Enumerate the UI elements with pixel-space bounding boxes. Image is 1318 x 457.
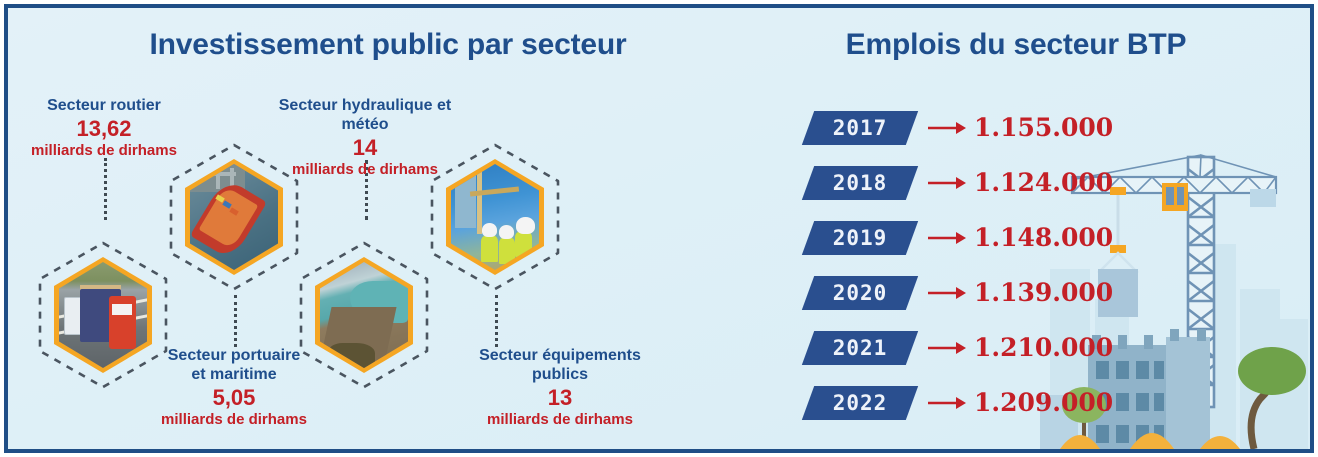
sector-name-line2: publics (460, 365, 660, 384)
year-value: 1.210.000 (974, 331, 1113, 365)
sector-image-routier (59, 262, 147, 368)
sector-label-routier: Secteur routier 13,62 milliards de dirha… (14, 96, 194, 160)
sector-name-line1: Secteur équipements (460, 346, 660, 365)
year-badge[interactable]: 2022 (802, 386, 918, 420)
year-label: 2018 (808, 166, 912, 200)
sector-label-hydraulique: Secteur hydraulique et météo 14 milliard… (255, 96, 475, 179)
year-row[interactable]: 2019 1.148.000 (808, 221, 1148, 255)
year-value: 1.155.000 (974, 111, 1113, 145)
year-value: 1.139.000 (974, 276, 1113, 310)
year-badge[interactable]: 2019 (802, 221, 918, 255)
right-arrow-icon (926, 283, 966, 303)
connector-routier (104, 158, 107, 220)
sector-unit: milliards de dirhams (255, 161, 475, 179)
sector-value: 5,05 (144, 385, 324, 411)
right-arrow-icon (926, 173, 966, 193)
year-label: 2017 (808, 111, 912, 145)
year-badge[interactable]: 2017 (802, 111, 918, 145)
year-row[interactable]: 2021 1.210.000 (808, 331, 1148, 365)
right-arrow-icon (926, 228, 966, 248)
sector-name: Secteur hydraulique et météo (255, 96, 475, 134)
year-label: 2020 (808, 276, 912, 310)
year-value: 1.148.000 (974, 221, 1113, 255)
year-row[interactable]: 2022 1.209.000 (808, 386, 1148, 420)
connector-equipements (495, 295, 498, 347)
infographic-frame: Investissement public par secteur (4, 4, 1314, 453)
sector-image-equipements (451, 164, 539, 270)
hexagon-orange-border (315, 257, 413, 373)
year-badge[interactable]: 2021 (802, 331, 918, 365)
right-arrow-icon (926, 118, 966, 138)
year-label: 2021 (808, 331, 912, 365)
right-arrow-icon (926, 393, 966, 413)
year-badge[interactable]: 2020 (802, 276, 918, 310)
hexagon-orange-border (54, 257, 152, 373)
sector-unit: milliards de dirhams (144, 411, 324, 429)
year-row[interactable]: 2018 1.124.000 (808, 166, 1148, 200)
year-row[interactable]: 2017 1.155.000 (808, 111, 1148, 145)
sector-name-line2: et maritime (144, 365, 324, 384)
year-badge[interactable]: 2018 (802, 166, 918, 200)
right-arrow-icon (926, 338, 966, 358)
sector-image-hydraulique (320, 262, 408, 368)
sector-value: 14 (255, 135, 475, 161)
sector-label-portuaire: Secteur portuaire et maritime 5,05 milli… (144, 346, 324, 429)
year-label: 2022 (808, 386, 912, 420)
sector-unit: milliards de dirhams (460, 411, 660, 429)
year-row[interactable]: 2020 1.139.000 (808, 276, 1148, 310)
sector-image-portuaire (190, 164, 278, 270)
page-title-left: Investissement public par secteur (148, 28, 628, 62)
connector-portuaire (234, 295, 237, 347)
sector-name: Secteur routier (14, 96, 194, 115)
sector-value: 13,62 (14, 116, 194, 142)
page-title-right: Emplois du secteur BTP (826, 28, 1206, 62)
sector-label-equipements: Secteur équipements publics 13 milliards… (460, 346, 660, 429)
sector-unit: milliards de dirhams (14, 142, 194, 160)
year-label: 2019 (808, 221, 912, 255)
sector-name-line1: Secteur portuaire (144, 346, 324, 365)
year-value: 1.209.000 (974, 386, 1113, 420)
year-value: 1.124.000 (974, 166, 1113, 200)
sector-value: 13 (460, 385, 660, 411)
